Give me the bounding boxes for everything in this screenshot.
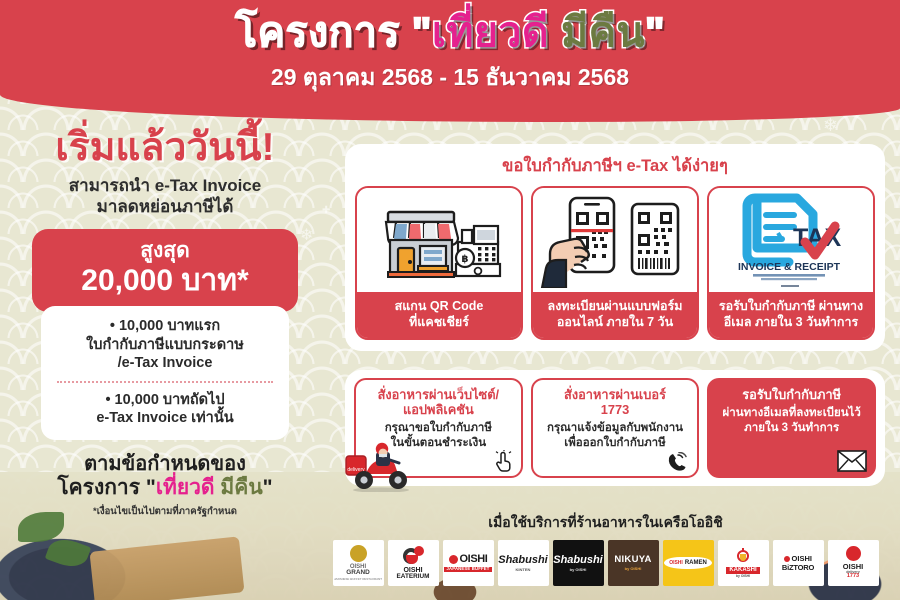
step-card-register-online[interactable]: ลงทะเบียนผ่านแบบฟอร์ม ออนไลน์ ภายใน 7 วั… bbox=[531, 186, 699, 340]
logo-oishi-japanese-buffet[interactable]: OISHI JAPANESE BUFFET bbox=[443, 540, 494, 586]
logo-oishi-delivery-sub: 1773 bbox=[847, 574, 859, 580]
info-card-3-body: ผ่านทางอีเมลที่ลงทะเบียนไว้ ภายใน 3 วันท… bbox=[715, 406, 868, 436]
logo-oishi-eaterium-line2: EATERIUM bbox=[397, 574, 430, 580]
etax-subtext-line1: สามารถนำ e-Tax Invoice bbox=[0, 175, 330, 196]
deduction-item-1: • 10,000 บาทแรก ใบกำกับภาษีแบบกระดาษ /e-… bbox=[51, 317, 279, 373]
logo-shabushi-white-line1: Shabushi bbox=[498, 555, 548, 566]
info-card-2-phone-number: 1773 bbox=[539, 402, 692, 417]
logo-kakashi-line1: KAKASHI bbox=[729, 567, 756, 573]
max-amount-value: 20,000 บาท* bbox=[40, 264, 290, 299]
title-quote-open: " bbox=[412, 9, 432, 55]
etax-invoice-receipt-icon: TAX INVOICE & RECEIPT bbox=[709, 188, 873, 292]
terms-olive-word: มีคืน bbox=[220, 476, 262, 499]
info-card-1-body-line1: กรุณาขอใบกำกับภาษี bbox=[362, 421, 515, 436]
logo-shabushi-black-line1: Shabushi bbox=[553, 555, 603, 566]
logo-oishi-ramen-line2: RAMEN bbox=[685, 560, 707, 566]
info-card-1-title-line1: สั่งอาหารผ่านเว็บไซต์/ bbox=[362, 387, 515, 402]
svg-text:INVOICE & RECEIPT: INVOICE & RECEIPT bbox=[738, 261, 841, 273]
info-card-3-title: รอรับใบกำกับภาษี bbox=[715, 387, 868, 402]
partner-logo-row: OISHI GRAND JAPANESE BUFFET RESTAURANT O… bbox=[318, 540, 893, 586]
logo-oishi-buffet-line1: OISHI bbox=[460, 554, 488, 565]
logo-oishi-biztoro[interactable]: OISHI BiZTORO bbox=[773, 540, 824, 586]
info-card-2-title-line1: สั่งอาหารผ่านเบอร์ bbox=[539, 387, 692, 402]
terms-line-1: ตามข้อกำหนดของ bbox=[0, 453, 330, 475]
logo-oishi-biztoro-line2: BiZTORO bbox=[782, 564, 814, 572]
logo-shabushi-black[interactable]: Shabushi by OISHI bbox=[553, 540, 604, 586]
step-1-line2: ที่แคชเชียร์ bbox=[361, 315, 517, 331]
deduction-detail-card: • 10,000 บาทแรก ใบกำกับภาษีแบบกระดาษ /e-… bbox=[41, 306, 289, 440]
terms-quote-open: " bbox=[146, 476, 156, 499]
step-2-line2: ออนไลน์ ภายใน 7 วัน bbox=[537, 315, 693, 331]
logo-oishi-grand-sub: JAPANESE BUFFET RESTAURANT bbox=[334, 578, 382, 581]
logo-oishi-buffet-sub: JAPANESE BUFFET bbox=[447, 567, 490, 571]
logo-shabushi-white[interactable]: Shabushi KINTEN bbox=[498, 540, 549, 586]
etax-steps-row: ฿ สแกน QR Code ที่แคชเชียร์ bbox=[355, 186, 875, 340]
info-card-2-title: สั่งอาหารผ่านเบอร์ 1773 bbox=[539, 387, 692, 417]
step-card-scan-qr-label: สแกน QR Code ที่แคชเชียร์ bbox=[357, 292, 521, 338]
logo-oishi-eaterium[interactable]: OISHI EATERIUM bbox=[388, 540, 439, 586]
left-promo-column: เริ่มแล้ววันนี้! สามารถนำ e-Tax Invoice … bbox=[0, 128, 330, 519]
deduction-item-1-line1: • 10,000 บาทแรก bbox=[51, 317, 279, 336]
info-card-3-body-line2: ภายใน 3 วันทำการ bbox=[715, 421, 868, 436]
info-card-2-body-line2: เพื่อออกใบกำกับภาษี bbox=[539, 436, 692, 451]
logo-oishi-grand-line2: GRAND bbox=[346, 570, 369, 576]
max-amount-card: สูงสุด 20,000 บาท* bbox=[32, 229, 298, 312]
terms-prefix: โครงการ bbox=[57, 476, 140, 499]
logo-shabushi-white-sub: KINTEN bbox=[516, 568, 531, 572]
info-card-1-title: สั่งอาหารผ่านเว็บไซต์/ แอปพลิเคชัน bbox=[362, 387, 515, 417]
terms-footnote: *เงื่อนไขเป็นไปตามที่ภาครัฐกำหนด bbox=[0, 504, 330, 519]
deduction-item-1-line3: /e-Tax Invoice bbox=[51, 354, 279, 373]
logo-oishi-ramen[interactable]: OISHI RAMEN bbox=[663, 540, 714, 586]
step-3-line2: อีเมล ภายใน 3 วันทำการ bbox=[713, 315, 869, 331]
step-card-scan-qr[interactable]: ฿ สแกน QR Code ที่แคชเชียร์ bbox=[355, 186, 523, 340]
logo-kakashi-sub: by OISHI bbox=[736, 575, 750, 578]
terms-quote-close: " bbox=[263, 476, 273, 499]
logo-nikuya[interactable]: NIKUYA by OISHI bbox=[608, 540, 659, 586]
step-2-line1: ลงทะเบียนผ่านแบบฟอร์ม bbox=[537, 299, 693, 315]
partner-brands-section: เมื่อใช้บริการที่ร้านอาหารในเครือโออิชิ … bbox=[318, 512, 893, 586]
terms-pink-word: เที่ยวดี bbox=[156, 476, 215, 499]
hand-click-icon bbox=[494, 450, 514, 472]
step-card-receive-email[interactable]: TAX INVOICE & RECEIPT รอรับใบกำกับภาษี ผ… bbox=[707, 186, 875, 340]
svg-text:฿: ฿ bbox=[462, 254, 469, 265]
deduction-item-2-line1: • 10,000 บาทถัดไป bbox=[51, 391, 279, 410]
info-card-3-body-line1: ผ่านทางอีเมลที่ลงทะเบียนไว้ bbox=[715, 406, 868, 421]
ringing-phone-icon bbox=[666, 452, 690, 472]
step-card-register-online-label: ลงทะเบียนผ่านแบบฟอร์ม ออนไลน์ ภายใน 7 วั… bbox=[533, 292, 697, 338]
logo-oishi-grand[interactable]: OISHI GRAND JAPANESE BUFFET RESTAURANT bbox=[333, 540, 384, 586]
logo-nikuya-sub: by OISHI bbox=[625, 567, 642, 571]
terms-line-2: โครงการ "เที่ยวดี มีคืน" bbox=[0, 476, 330, 500]
info-card-1-title-line2: แอปพลิเคชัน bbox=[362, 402, 515, 417]
headline-start-today: เริ่มแล้ววันนี้! bbox=[0, 128, 330, 169]
infographic-canvas: ❄ ❄ ✚ ❄ ✚ โครงการ "เที่ยวดี มีคืน" 29 ตุ… bbox=[0, 0, 900, 600]
max-amount-label: สูงสุด bbox=[40, 239, 290, 262]
info-card-3-title-line1: รอรับใบกำกับภาษี bbox=[715, 387, 868, 402]
title-pink-word: เที่ยวดี bbox=[432, 9, 549, 55]
logo-oishi-ramen-line1: OISHI bbox=[669, 561, 683, 566]
logo-nikuya-line1: NIKUYA bbox=[614, 555, 651, 565]
storefront-cashier-icon: ฿ bbox=[357, 188, 521, 292]
terms-block: ตามข้อกำหนดของ โครงการ "เที่ยวดี มีคืน" … bbox=[0, 453, 330, 519]
etax-subtext-line2: มาลดหย่อนภาษีได้ bbox=[0, 196, 330, 217]
info-card-2-body-line1: กรุณาแจ้งข้อมูลกับพนักงาน bbox=[539, 421, 692, 436]
header-banner: โครงการ "เที่ยวดี มีคืน" 29 ตุลาคม 2568 … bbox=[0, 0, 900, 122]
logo-oishi-biztoro-line1: OISHI bbox=[792, 555, 812, 563]
deduction-item-2-line2: e-Tax Invoice เท่านั้น bbox=[51, 409, 279, 428]
logo-kakashi[interactable]: KAKASHI by OISHI bbox=[718, 540, 769, 586]
deduction-item-2: • 10,000 บาทถัดไป e-Tax Invoice เท่านั้น bbox=[51, 391, 279, 428]
etax-steps-panel: ขอใบกำกับภาษีฯ e-Tax ได้ง่ายๆ bbox=[345, 144, 885, 351]
delivery-scooter-icon: delivery bbox=[340, 438, 414, 492]
dotted-divider bbox=[57, 381, 273, 383]
step-3-line1: รอรับใบกำกับภาษี ผ่านทาง bbox=[713, 299, 869, 315]
step-1-line1: สแกน QR Code bbox=[361, 299, 517, 315]
logo-oishi-delivery-1773[interactable]: OISHI delivery 1773 bbox=[828, 540, 879, 586]
title-quote-close: " bbox=[645, 9, 665, 55]
step-card-receive-email-label: รอรับใบกำกับภาษี ผ่านทาง อีเมล ภายใน 3 ว… bbox=[709, 292, 873, 338]
deduction-item-1-line2: ใบกำกับภาษีแบบกระดาษ bbox=[51, 336, 279, 355]
partner-brands-title: เมื่อใช้บริการที่ร้านอาหารในเครือโออิชิ bbox=[318, 512, 893, 534]
title-prefix: โครงการ bbox=[235, 9, 400, 55]
date-range: 29 ตุลาคม 2568 - 15 ธันวาคม 2568 bbox=[0, 60, 900, 96]
page-title: โครงการ "เที่ยวดี มีคืน" bbox=[0, 10, 900, 56]
envelope-icon bbox=[837, 450, 867, 472]
hand-phone-qr-scan-icon bbox=[533, 188, 697, 292]
etax-steps-title: ขอใบกำกับภาษีฯ e-Tax ได้ง่ายๆ bbox=[355, 153, 875, 179]
info-card-order-phone[interactable]: สั่งอาหารผ่านเบอร์ 1773 กรุณาแจ้งข้อมูลก… bbox=[531, 378, 700, 478]
title-olive-word: มีคืน bbox=[561, 9, 645, 55]
etax-subtext: สามารถนำ e-Tax Invoice มาลดหย่อนภาษีได้ bbox=[0, 175, 330, 218]
logo-shabushi-black-sub: by OISHI bbox=[570, 568, 587, 572]
blossom-decor: ❄ bbox=[823, 116, 838, 134]
info-card-2-body: กรุณาแจ้งข้อมูลกับพนักงาน เพื่อออกใบกำกั… bbox=[539, 421, 692, 451]
ordering-channels-panel: สั่งอาหารผ่านเว็บไซต์/ แอปพลิเคชัน กรุณา… bbox=[345, 370, 885, 486]
info-card-receive-invoice[interactable]: รอรับใบกำกับภาษี ผ่านทางอีเมลที่ลงทะเบีย… bbox=[707, 378, 876, 478]
